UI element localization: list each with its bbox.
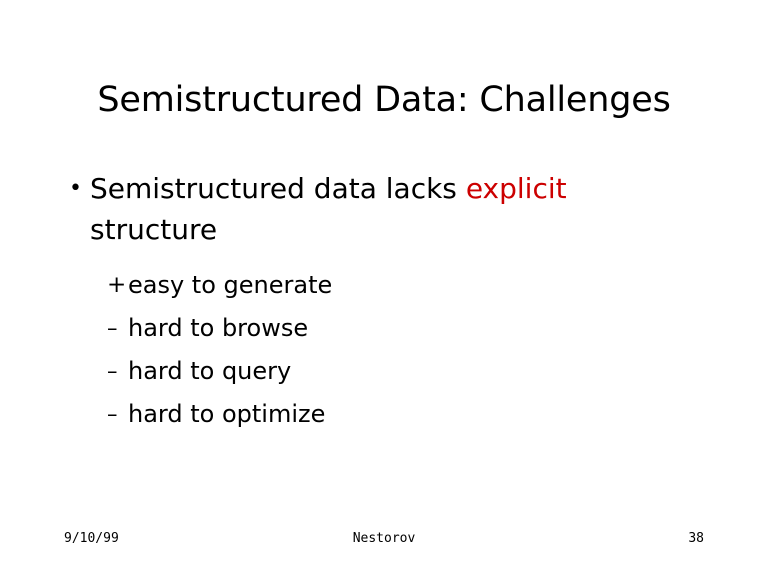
plus-marker-icon: + <box>107 264 129 307</box>
dash-marker-icon: – <box>107 350 129 393</box>
footer-author: Nestorov <box>0 528 768 550</box>
dash-marker-icon: – <box>107 307 129 350</box>
bullet-level1-text-tail: structure <box>90 213 217 246</box>
bullet-level1: •Semistructured data lacks explicit stru… <box>0 168 768 250</box>
sub-bullet-easy-to-generate: +easy to generate <box>0 264 768 307</box>
slide-body: •Semistructured data lacks explicit stru… <box>0 168 768 436</box>
sub-bullet-label: hard to browse <box>128 314 308 342</box>
sub-bullet-hard-to-optimize: –hard to optimize <box>0 393 768 436</box>
footer-page-number: 38 <box>688 528 704 550</box>
sub-bullet-list: +easy to generate –hard to browse –hard … <box>0 264 768 436</box>
bullet-dot-icon: • <box>69 168 89 209</box>
bullet-level1-text-lead: Semistructured data lacks <box>90 172 466 205</box>
bullet-level1-highlight: explicit <box>466 172 567 205</box>
sub-bullet-label: easy to generate <box>128 271 332 299</box>
dash-marker-icon: – <box>107 393 129 436</box>
slide: Semistructured Data: Challenges •Semistr… <box>0 0 768 576</box>
sub-bullet-hard-to-browse: –hard to browse <box>0 307 768 350</box>
sub-bullet-label: hard to optimize <box>128 400 325 428</box>
slide-title: Semistructured Data: Challenges <box>0 78 768 122</box>
sub-bullet-hard-to-query: –hard to query <box>0 350 768 393</box>
slide-footer: 9/10/99 Nestorov 38 <box>0 528 768 550</box>
sub-bullet-label: hard to query <box>128 357 291 385</box>
